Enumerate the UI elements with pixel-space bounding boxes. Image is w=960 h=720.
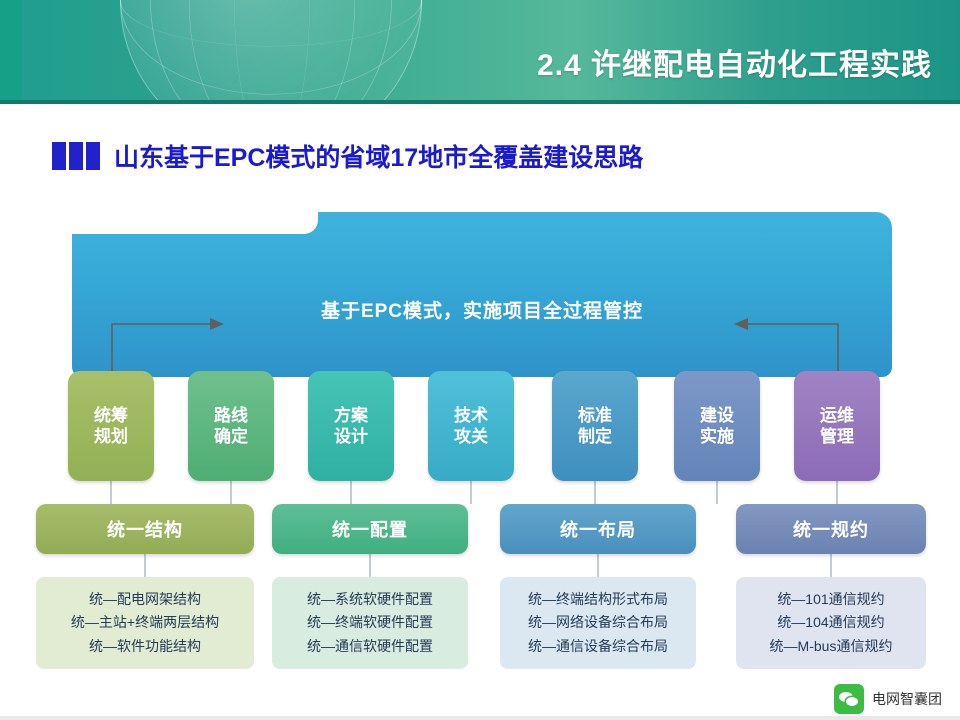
wechat-watermark: 电网智囊团 [834,684,942,714]
slide-footer [0,678,960,720]
detail-item: 统—101通信规约 [777,588,884,611]
detail-item: 统—终端软硬件配置 [307,611,433,634]
detail-item: 统—通信设备综合布局 [528,635,668,658]
group-label: 统一规约 [793,516,869,542]
stage-label: 标准制定 [578,405,612,448]
detail-item: 统—104通信规约 [777,611,884,634]
detail-item: 统—配电网架结构 [89,588,201,611]
detail-tongyi-guiyue: 统—101通信规约 统—104通信规约 统—M-bus通信规约 [736,577,926,669]
slide-header: 2.4 许继配电自动化工程实践 [0,0,960,102]
group-tongyi-jiegou[interactable]: 统一结构 [36,504,254,554]
stage-label: 建设实施 [700,405,734,448]
group-label: 统一布局 [560,516,636,542]
detail-tongyi-peizhi: 统—系统软硬件配置 统—终端软硬件配置 统—通信软硬件配置 [272,577,468,669]
section-title-row: 山东基于EPC模式的省域17地市全覆盖建设思路 [52,138,643,174]
header-divider-white [0,104,960,106]
header-left-bar [0,0,22,102]
stage-luxian-queding[interactable]: 路线确定 [188,371,274,481]
group-tongyi-guiyue[interactable]: 统一规约 [736,504,926,554]
detail-item: 统—软件功能结构 [89,635,201,658]
detail-item: 统—通信软硬件配置 [307,635,433,658]
stage-label: 运维管理 [820,405,854,448]
detail-item: 统—终端结构形式布局 [528,588,668,611]
detail-tongyi-jiegou: 统—配电网架结构 统—主站+终端两层结构 统—软件功能结构 [36,577,254,669]
stage-biaozhun-zhiding[interactable]: 标准制定 [552,371,638,481]
stage-jianshe-shishi[interactable]: 建设实施 [674,371,760,481]
title-marker-blocks [52,142,100,170]
bottom-edge [0,716,960,720]
detail-item: 统—M-bus通信规约 [770,635,893,658]
group-tongyi-peizhi[interactable]: 统一配置 [272,504,468,554]
stage-label: 技术攻关 [454,405,488,448]
stage-jishu-gongguan[interactable]: 技术攻关 [428,371,514,481]
detail-item: 统—系统软硬件配置 [307,588,433,611]
epc-banner [72,212,892,377]
detail-item: 统—网络设备综合布局 [528,611,668,634]
group-tongyi-buju[interactable]: 统一布局 [500,504,696,554]
banner-text: 基于EPC模式，实施项目全过程管控 [72,296,892,323]
group-label: 统一配置 [332,516,408,542]
detail-tongyi-buju: 统—终端结构形式布局 统—网络设备综合布局 统—通信设备综合布局 [500,577,696,669]
stage-fangan-sheji[interactable]: 方案设计 [308,371,394,481]
group-label: 统一结构 [107,516,183,542]
stage-label: 方案设计 [334,405,368,448]
stage-label: 统筹规划 [94,405,128,448]
wechat-icon [834,684,864,714]
banner-notch [72,212,318,234]
stage-yunwei-guanli[interactable]: 运维管理 [794,371,880,481]
stage-label: 路线确定 [214,405,248,448]
detail-item: 统—主站+终端两层结构 [71,611,219,634]
section-title: 山东基于EPC模式的省域17地市全覆盖建设思路 [114,138,643,174]
page-title: 2.4 许继配电自动化工程实践 [537,40,932,84]
stage-tongchou-guihua[interactable]: 统筹规划 [68,371,154,481]
wechat-label: 电网智囊团 [872,689,942,709]
